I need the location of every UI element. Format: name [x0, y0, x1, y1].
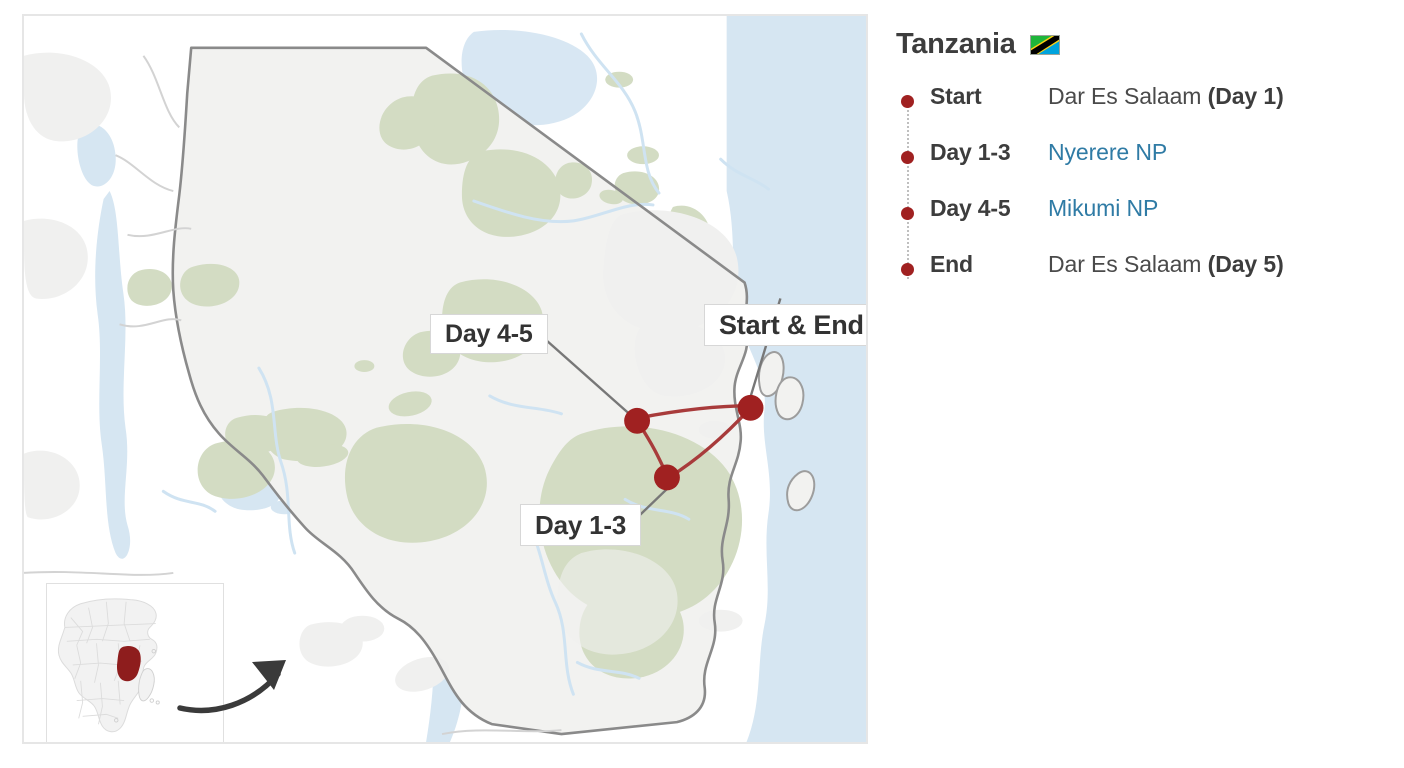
legend-place-text: Mikumi NP: [1048, 195, 1158, 221]
legend-day-label: End: [930, 251, 1048, 278]
legend-dot-icon: [901, 207, 914, 220]
legend-day-label: Start: [930, 83, 1048, 110]
map-panel[interactable]: Day 4-5 Day 1-3 Start & End: [22, 14, 868, 744]
tanzania-flag-icon: [1030, 35, 1060, 55]
marker-dar-es-salaam[interactable]: [738, 395, 764, 421]
legend-place-link[interactable]: Nyerere NP: [1048, 139, 1167, 166]
legend-dot-icon: [901, 263, 914, 276]
legend-place-text: Dar Es Salaam: [1048, 83, 1201, 109]
legend-place-text: Nyerere NP: [1048, 139, 1167, 165]
marker-mikumi-np[interactable]: [624, 408, 650, 434]
legend-row-end[interactable]: End Dar Es Salaam (Day 5): [896, 251, 1386, 307]
africa-locator-inset[interactable]: [46, 583, 224, 744]
legend-place-suffix: (Day 1): [1208, 83, 1284, 109]
legend-panel: Tanzania Start Dar Es Salaam (Day 1): [896, 28, 1386, 307]
legend-day-label: Day 1-3: [930, 139, 1048, 166]
itinerary-legend-list: Start Dar Es Salaam (Day 1) Day 1-3 Nyer…: [896, 83, 1386, 307]
inset-canvas: [47, 584, 223, 744]
legend-row-start[interactable]: Start Dar Es Salaam (Day 1): [896, 83, 1386, 139]
legend-header: Tanzania: [896, 28, 1386, 61]
legend-dot-icon: [901, 151, 914, 164]
legend-place-link[interactable]: Mikumi NP: [1048, 195, 1158, 222]
page-title: Tanzania: [896, 28, 1016, 61]
marker-nyerere-np[interactable]: [654, 465, 680, 491]
legend-row-day-1-3[interactable]: Day 1-3 Nyerere NP: [896, 139, 1386, 195]
map-label-day-1-3[interactable]: Day 1-3: [520, 504, 641, 546]
legend-place-label: Dar Es Salaam (Day 1): [1048, 83, 1284, 110]
map-label-day-4-5[interactable]: Day 4-5: [430, 314, 548, 354]
legend-row-day-4-5[interactable]: Day 4-5 Mikumi NP: [896, 195, 1386, 251]
itinerary-map-page: Day 4-5 Day 1-3 Start & End: [0, 0, 1404, 768]
legend-place-suffix: (Day 5): [1208, 251, 1284, 277]
legend-place-text: Dar Es Salaam: [1048, 251, 1201, 277]
legend-dot-icon: [901, 95, 914, 108]
legend-day-label: Day 4-5: [930, 195, 1048, 222]
legend-place-label: Dar Es Salaam (Day 5): [1048, 251, 1284, 278]
map-label-start-and-end[interactable]: Start & End: [704, 304, 868, 346]
